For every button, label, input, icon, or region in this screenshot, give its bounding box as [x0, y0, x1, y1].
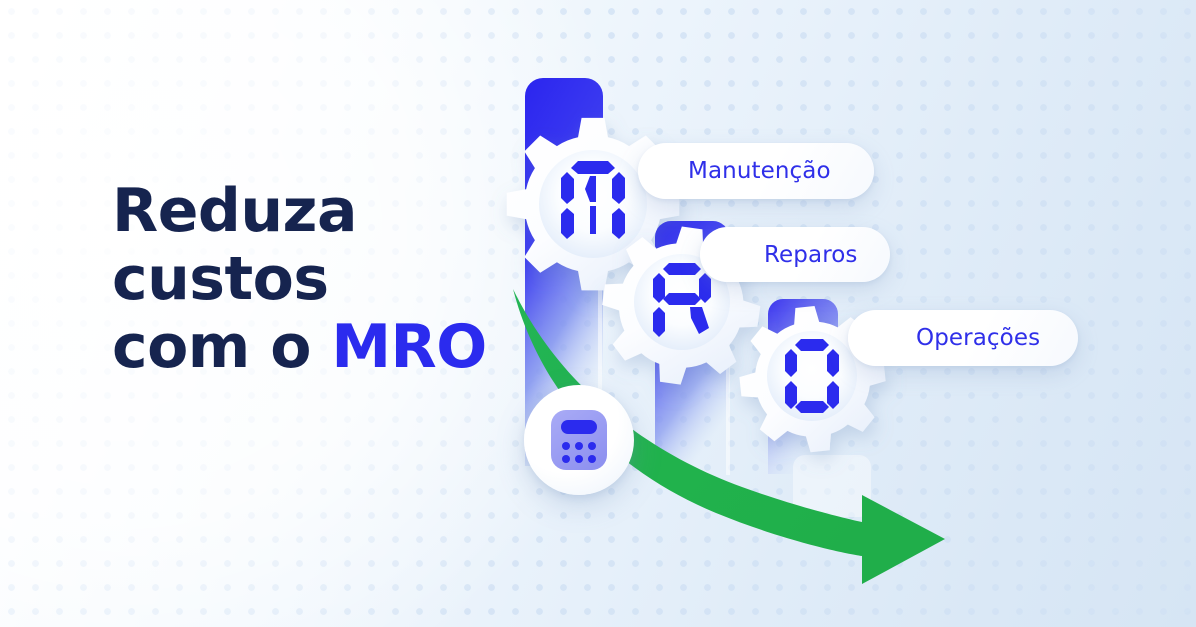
seven-segment-letter-r — [653, 263, 711, 337]
headline-line-3-prefix: com o — [112, 312, 331, 382]
headline-accent-mro: MRO — [331, 312, 486, 382]
page-title: Reduza custos com o MRO — [112, 178, 532, 381]
label-pill-manutencao: Manutenção — [638, 143, 874, 199]
calculator-badge — [524, 385, 634, 495]
promo-banner: Reduza custos com o MRO Manutenção Repar… — [0, 0, 1196, 627]
label-pill-reparos: Reparos — [700, 227, 890, 282]
headline-line-2: custos — [112, 246, 532, 314]
seven-segment-letter-m — [561, 161, 625, 239]
headline-line-3: com o MRO — [112, 314, 532, 382]
label-pill-manutencao-text: Manutenção — [688, 158, 831, 184]
gear-icon-manutencao — [507, 118, 679, 290]
calculator-icon — [548, 409, 610, 471]
bar-operacoes — [768, 299, 838, 474]
base-plate — [793, 455, 871, 517]
label-pill-operacoes-text: Operações — [916, 325, 1040, 351]
label-pill-operacoes: Operações — [848, 310, 1078, 366]
headline-line-1: Reduza — [112, 178, 532, 246]
seven-segment-letter-o — [785, 339, 839, 413]
label-pill-reparos-text: Reparos — [764, 242, 858, 268]
